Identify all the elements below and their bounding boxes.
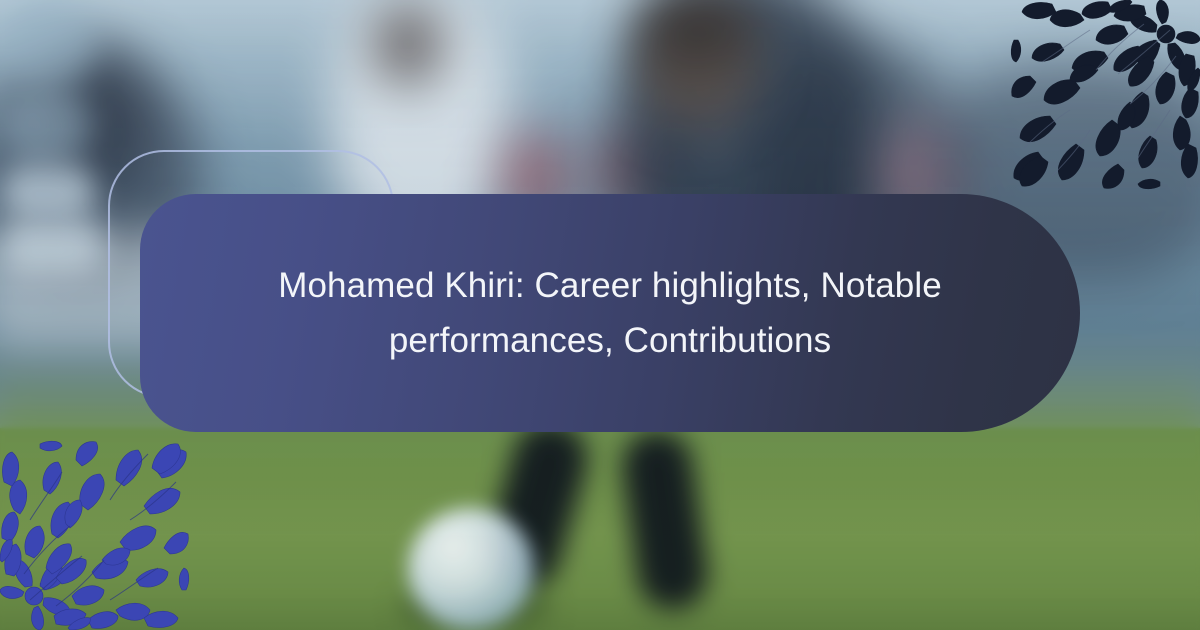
preview-card-stage: Mohamed Khiri: Career highlights, Notabl… — [0, 0, 1200, 630]
page-title: Mohamed Khiri: Career highlights, Notabl… — [232, 258, 988, 369]
title-card: Mohamed Khiri: Career highlights, Notabl… — [140, 194, 1080, 432]
